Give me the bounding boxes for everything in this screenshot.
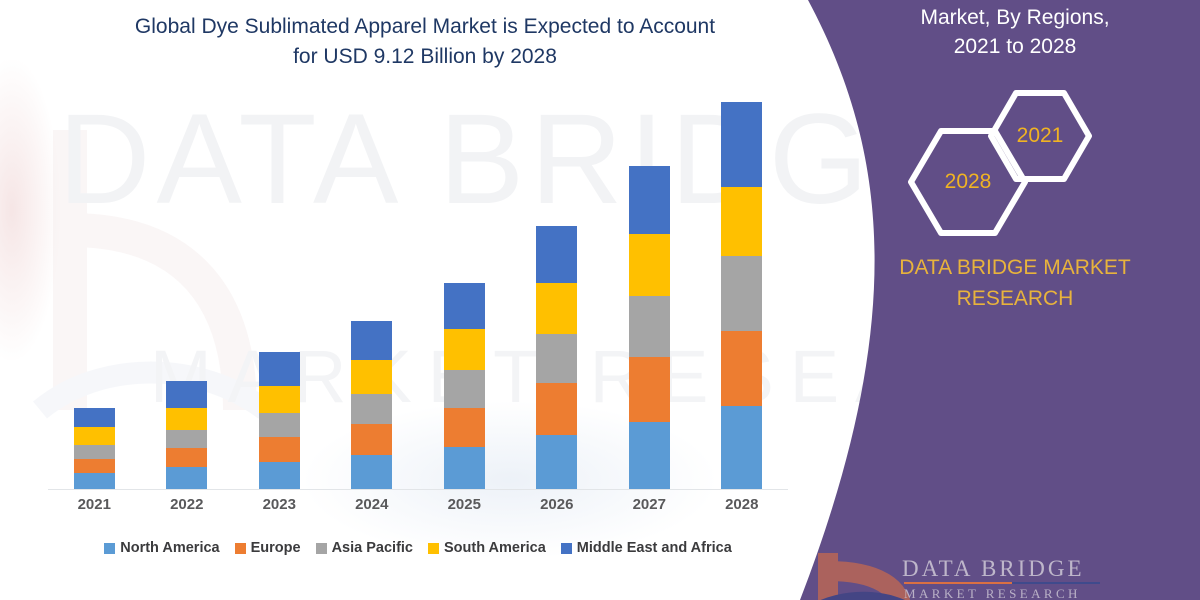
stacked-bar[interactable] — [536, 226, 577, 489]
bar-segment[interactable] — [351, 321, 392, 360]
bar-group-2023 — [234, 352, 324, 489]
bar-segment[interactable] — [74, 427, 115, 444]
stacked-bar[interactable] — [444, 283, 485, 489]
legend-label: North America — [120, 540, 219, 556]
legend-label: Asia Pacific — [332, 540, 413, 556]
bar-group-2024 — [327, 321, 417, 489]
chart-legend: North AmericaEuropeAsia PacificSouth Ame… — [48, 540, 788, 556]
bar-series-container — [48, 102, 788, 489]
x-axis-label-2023: 2023 — [234, 496, 324, 513]
bar-segment[interactable] — [259, 352, 300, 386]
bar-segment[interactable] — [74, 408, 115, 428]
bar-segment[interactable] — [166, 467, 207, 489]
bar-segment[interactable] — [721, 256, 762, 331]
bar-segment[interactable] — [259, 462, 300, 489]
bar-segment[interactable] — [536, 226, 577, 282]
footer-logo-rule — [904, 582, 1100, 584]
side-panel-heading-line-2: Market, By Regions, — [850, 3, 1180, 32]
legend-item-middle-east-and-africa[interactable]: Middle East and Africa — [561, 540, 732, 556]
hex-badge-2028: 2028 — [906, 126, 1030, 238]
x-axis-label-2025: 2025 — [419, 496, 509, 513]
bar-segment[interactable] — [351, 424, 392, 455]
stacked-bar[interactable] — [74, 408, 115, 489]
legend-swatch-icon — [428, 543, 439, 554]
x-axis-label-2024: 2024 — [327, 496, 417, 513]
chart-title: Global Dye Sublimated Apparel Market is … — [60, 12, 790, 72]
legend-swatch-icon — [561, 543, 572, 554]
chart-title-line-2: for USD 9.12 Billion by 2028 — [60, 42, 790, 72]
bar-group-2025 — [419, 283, 509, 489]
x-axis-label-2027: 2027 — [604, 496, 694, 513]
bar-segment[interactable] — [721, 331, 762, 406]
bar-group-2026 — [512, 226, 602, 489]
bar-group-2021 — [49, 408, 139, 489]
bar-segment[interactable] — [166, 408, 207, 430]
x-axis-label-2028: 2028 — [697, 496, 787, 513]
hex-badge-2028-label: 2028 — [945, 170, 992, 194]
legend-label: Europe — [251, 540, 301, 556]
stacked-bar[interactable] — [629, 166, 670, 489]
bar-segment[interactable] — [444, 447, 485, 489]
bar-group-2022 — [142, 381, 232, 489]
legend-item-south-america[interactable]: South America — [428, 540, 546, 556]
side-panel-heading-line-3: 2021 to 2028 — [850, 32, 1180, 61]
stacked-bar[interactable] — [166, 381, 207, 489]
x-axis-label-2026: 2026 — [512, 496, 602, 513]
bar-segment[interactable] — [166, 448, 207, 468]
hex-badge-group: 2021 2028 — [898, 88, 1118, 218]
bar-segment[interactable] — [444, 408, 485, 447]
side-panel-content: Global Dye Sublimated Apparel Market, By… — [780, 0, 1200, 600]
x-axis-label-2022: 2022 — [142, 496, 232, 513]
footer-logo-subtext: MARKET RESEARCH — [904, 586, 1081, 600]
brand-line-1: DATA BRIDGE MARKET — [870, 252, 1160, 283]
bar-segment[interactable] — [629, 296, 670, 358]
bar-segment[interactable] — [74, 473, 115, 489]
bar-segment[interactable] — [444, 283, 485, 328]
bar-segment[interactable] — [351, 360, 392, 395]
bar-group-2028 — [697, 102, 787, 489]
bar-segment[interactable] — [74, 459, 115, 473]
footer-logo-text: DATA BRIDGE — [902, 556, 1085, 582]
bar-group-2027 — [604, 166, 694, 489]
side-panel: Global Dye Sublimated Apparel Market, By… — [780, 0, 1200, 600]
bar-segment[interactable] — [166, 381, 207, 408]
bar-segment[interactable] — [629, 357, 670, 421]
bar-segment[interactable] — [629, 166, 670, 233]
chart-plot-area — [48, 100, 788, 490]
bar-segment[interactable] — [629, 422, 670, 489]
x-axis-labels: 20212022202320242025202620272028 — [48, 496, 788, 513]
side-panel-heading: Global Dye Sublimated Apparel Market, By… — [850, 0, 1180, 61]
infographic-canvas: DATA BRIDGE MARKET RESEARCH Global Dye S… — [0, 0, 1200, 600]
bar-segment[interactable] — [629, 234, 670, 296]
bar-segment[interactable] — [536, 334, 577, 383]
legend-label: Middle East and Africa — [577, 540, 732, 556]
stacked-bar[interactable] — [351, 321, 392, 489]
bar-segment[interactable] — [536, 283, 577, 334]
bar-segment[interactable] — [721, 102, 762, 186]
bar-segment[interactable] — [444, 329, 485, 370]
bar-segment[interactable] — [351, 394, 392, 423]
x-axis-line — [48, 489, 788, 490]
stacked-bar[interactable] — [259, 352, 300, 489]
bar-segment[interactable] — [351, 455, 392, 489]
legend-swatch-icon — [316, 543, 327, 554]
legend-item-north-america[interactable]: North America — [104, 540, 219, 556]
bar-segment[interactable] — [721, 187, 762, 257]
hex-badge-2021-label: 2021 — [1017, 124, 1064, 148]
bar-segment[interactable] — [536, 435, 577, 489]
brand-line-2: RESEARCH — [870, 283, 1160, 314]
bar-segment[interactable] — [74, 445, 115, 459]
bar-segment[interactable] — [259, 413, 300, 437]
bar-segment[interactable] — [444, 370, 485, 408]
legend-swatch-icon — [104, 543, 115, 554]
chart-title-line-1: Global Dye Sublimated Apparel Market is … — [60, 12, 790, 42]
legend-item-asia-pacific[interactable]: Asia Pacific — [316, 540, 413, 556]
x-axis-label-2021: 2021 — [49, 496, 139, 513]
brand-name: DATA BRIDGE MARKET RESEARCH — [870, 252, 1160, 314]
bar-segment[interactable] — [721, 406, 762, 489]
legend-swatch-icon — [235, 543, 246, 554]
stacked-bar[interactable] — [721, 102, 762, 489]
bar-segment[interactable] — [259, 386, 300, 413]
bar-segment[interactable] — [259, 437, 300, 462]
legend-item-europe[interactable]: Europe — [235, 540, 301, 556]
bar-segment[interactable] — [536, 383, 577, 434]
bar-segment[interactable] — [166, 430, 207, 448]
legend-label: South America — [444, 540, 546, 556]
